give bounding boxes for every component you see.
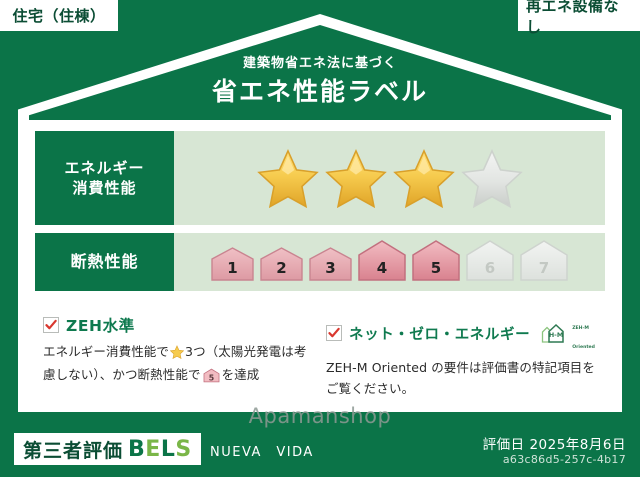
grade-value: 7 <box>518 259 570 277</box>
label-title: 省エネ性能ラベル <box>0 77 640 107</box>
zeh-standard-note: ZEH水準 エネルギー消費性能で3つ（太陽光発電は考慮しない）、かつ断熱性能で5… <box>37 314 320 412</box>
building-name: NUEVA VIDA <box>210 441 314 460</box>
grade-house-5: 5 <box>410 238 462 283</box>
renewable-equipment-tag: 再エネ設備なし <box>518 0 640 31</box>
evaluation-date-value: 2025年8月6日 <box>529 437 626 453</box>
checkbox-checked-icon[interactable] <box>43 317 59 333</box>
grade-value: 6 <box>464 259 516 277</box>
footer-bar: 第三者評価 BELS NUEVA VIDA 評価日 2025年8月6日 a63c… <box>0 425 640 477</box>
grade-house-1: 1 <box>209 245 256 283</box>
grade-value: 5 <box>410 259 462 277</box>
evaluation-id: a63c86d5-257c-4b17 <box>503 453 626 466</box>
inline-star-icon <box>170 345 184 365</box>
net-zero-energy-title: ネット・ゼロ・エネルギー <box>349 323 530 344</box>
star-filled-icon <box>325 148 387 208</box>
zeh-text-part3: を達成 <box>222 367 260 382</box>
zeh-text-part1: エネルギー消費性能で <box>43 344 169 359</box>
bels-logo: BELS <box>128 437 192 462</box>
star-rating <box>257 148 523 208</box>
bels-letter-e: E <box>145 437 161 462</box>
evaluation-date: 評価日 2025年8月6日 <box>483 433 626 453</box>
grade-house-3: 3 <box>307 245 354 283</box>
energy-stars-body <box>174 131 605 225</box>
inline-grade-badge: 5 <box>203 368 220 389</box>
svg-text:5: 5 <box>208 374 213 383</box>
energy-performance-row: エネルギー 消費性能 <box>35 131 605 225</box>
building-type-tag: 住宅（住棟） <box>0 0 118 31</box>
grade-value: 2 <box>258 259 305 277</box>
zeh-standard-text: エネルギー消費性能で3つ（太陽光発電は考慮しない）、かつ断熱性能で5を達成 <box>43 342 314 390</box>
zeh-m-oriented-logo: H-M ZEH-M Oriented <box>540 314 595 352</box>
insulation-grade-scale: 1 2 3 <box>209 238 570 286</box>
label-title-block: 建築物省エネ法に基づく 省エネ性能ラベル <box>0 56 640 107</box>
bels-letter-s: S <box>175 437 191 462</box>
energy-label-line2: 消費性能 <box>72 178 136 198</box>
bels-badge: 第三者評価 BELS <box>14 433 201 465</box>
energy-label-line1: エネルギー <box>64 158 144 178</box>
grade-house-2: 2 <box>258 245 305 283</box>
grade-house-7: 7 <box>518 238 570 283</box>
grade-value: 4 <box>356 259 408 277</box>
checkbox-checked-icon[interactable] <box>326 325 342 341</box>
bels-letter-l: L <box>161 437 176 462</box>
third-party-evaluation-label: 第三者評価 <box>23 436 123 463</box>
zeh-standard-header: ZEH水準 <box>43 314 314 336</box>
bels-letter-b: B <box>128 437 145 462</box>
grade-house-6: 6 <box>464 238 516 283</box>
star-filled-icon <box>257 148 319 208</box>
net-zero-energy-note: ネット・ゼロ・エネルギー H-M ZEH-M Oriented ZEH-M Or… <box>320 314 603 412</box>
star-empty-icon <box>461 148 523 208</box>
grade-value: 1 <box>209 259 256 277</box>
zeh-star-count: 3つ <box>185 344 206 359</box>
grade-value: 3 <box>307 259 354 277</box>
insulation-performance-row: 断熱性能 1 <box>35 233 605 291</box>
zeh-standard-title: ZEH水準 <box>66 314 135 336</box>
energy-performance-label: エネルギー 消費性能 <box>35 131 174 225</box>
label-subtitle: 建築物省エネ法に基づく <box>0 56 640 72</box>
energy-performance-label: 住宅（住棟） 再エネ設備なし 建築物省エネ法に基づく 省エネ性能ラベル エネルギ… <box>0 0 640 477</box>
zeh-m-caption-line1: ZEH-M <box>572 326 589 331</box>
evaluation-date-label: 評価日 <box>483 437 525 453</box>
insulation-grades-body: 1 2 3 <box>174 233 605 291</box>
notes-section: ZEH水準 エネルギー消費性能で3つ（太陽光発電は考慮しない）、かつ断熱性能で5… <box>29 312 611 412</box>
svg-text:H-M: H-M <box>549 331 563 339</box>
zeh-m-caption-line2: Oriented <box>572 345 595 350</box>
net-zero-energy-text: ZEH-M Oriented の要件は評価書の特記項目をご覧ください。 <box>326 358 597 399</box>
insulation-performance-label: 断熱性能 <box>35 233 174 291</box>
net-zero-energy-header: ネット・ゼロ・エネルギー H-M ZEH-M Oriented <box>326 314 597 352</box>
grade-house-4: 4 <box>356 238 408 283</box>
star-filled-icon <box>393 148 455 208</box>
